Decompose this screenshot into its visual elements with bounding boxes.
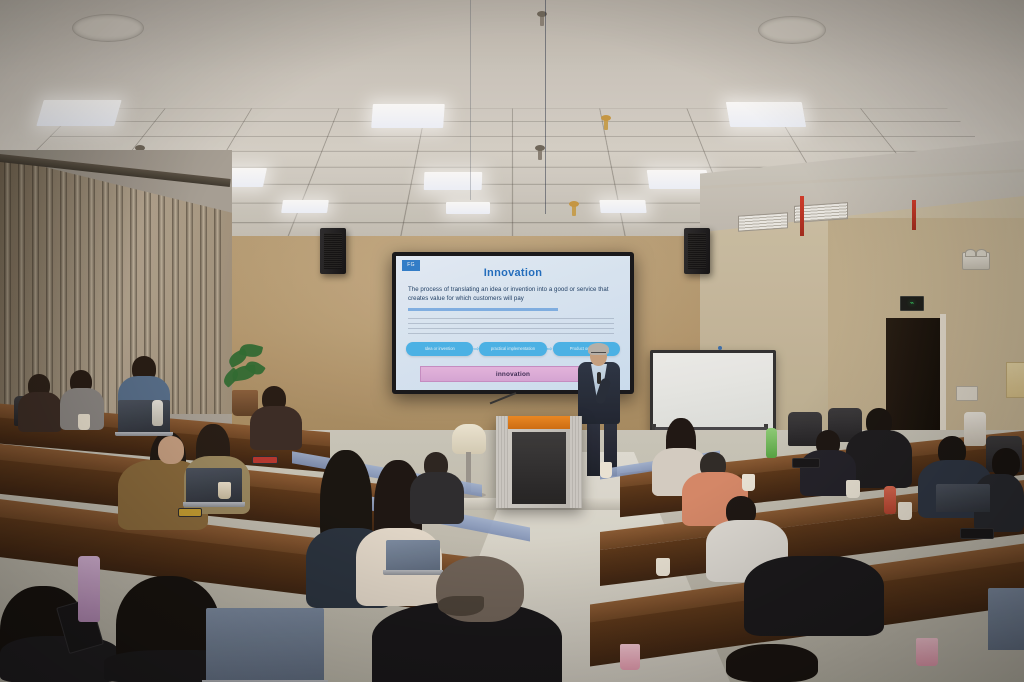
slide-hyperlink[interactable] [408,308,558,311]
person-torso [744,556,884,636]
red-marker-strip [912,200,916,230]
fire-sprinkler [538,148,542,160]
led-ceiling-panel [726,102,806,127]
lectern-front-panel [512,432,566,504]
fire-sprinkler [604,118,608,130]
ceiling-speaker [72,14,144,42]
door-jamb [940,314,946,448]
bar-stool-seat [452,424,486,454]
person-hair [726,644,818,682]
paper-cup[interactable] [620,644,640,670]
paper-cup[interactable] [916,638,938,666]
slide-body-text: The process of translating an idea or in… [408,285,618,304]
smartphone[interactable] [178,508,202,517]
red-marker-strip [800,196,804,236]
paper-cup[interactable] [600,462,612,478]
water-bottle[interactable] [884,486,896,514]
water-bottle[interactable] [152,400,163,426]
whiteboard[interactable] [650,350,776,434]
fire-sprinkler [540,14,544,26]
smartphone[interactable] [252,456,278,464]
paper-cup[interactable] [898,502,912,520]
laptop-screen [988,588,1024,650]
water-bottle[interactable] [766,428,777,458]
smartphone[interactable] [792,458,820,468]
paper-cup[interactable] [656,558,670,576]
lectern-side-vent [570,416,582,508]
slide-fine-print [408,316,614,334]
lecture-hall-photo: FG Innovation The process of translating… [0,0,1024,682]
laptop-base [383,570,443,575]
flow-box-1: Idea or invention [406,342,473,355]
water-bottle[interactable] [964,412,986,446]
flow-arrow-icon: ⇨ [547,346,553,353]
flow-box-2: practical implementation [479,342,546,355]
person-torso [18,392,62,432]
presenter-leg [587,420,600,476]
exit-sign-icon: ⌁ [900,296,924,311]
led-ceiling-panel [36,100,121,126]
person-torso [250,406,302,450]
laptop-base [183,502,245,507]
laptop-screen [936,484,990,512]
glasses-icon [591,352,606,357]
lectern-side-vent [496,416,508,508]
laptop-screen [386,540,440,570]
flow-box-3: Product or service [553,342,620,355]
microphone-icon [597,372,601,384]
ceiling-grid-line [512,108,513,248]
emergency-light-icon [962,252,990,270]
ceiling-grid-line [397,108,426,248]
whiteboard-magnet-icon [718,346,722,350]
lectern [496,416,582,508]
exit-door[interactable] [886,318,944,448]
ceiling-wire [470,0,471,200]
led-ceiling-panel [446,202,490,214]
paper-cup[interactable] [846,480,860,498]
fire-sprinkler [572,204,576,216]
paper-cup[interactable] [218,482,231,499]
wall-socket-icon [956,386,978,401]
laptop-base [115,432,173,436]
ceiling-wire [545,0,546,214]
led-ceiling-panel [371,104,445,128]
wall-speaker [684,228,710,274]
water-bottle[interactable] [78,556,100,622]
ceiling-speaker [758,16,826,44]
led-ceiling-panel [424,172,483,190]
cap-brim-icon [438,596,484,616]
slide-banner-label: innovation [496,371,530,378]
person-head [158,436,184,464]
led-ceiling-panel [599,200,646,213]
wall-speaker [320,228,346,274]
wall-notice [1006,362,1024,398]
smartphone[interactable] [960,528,994,539]
laptop-screen [186,468,242,502]
paper-cup[interactable] [78,414,90,430]
laptop-screen [206,608,324,680]
led-ceiling-panel [281,200,329,213]
paper-cup[interactable] [742,474,755,491]
person-torso [410,472,464,524]
slide-title: Innovation [396,267,630,279]
